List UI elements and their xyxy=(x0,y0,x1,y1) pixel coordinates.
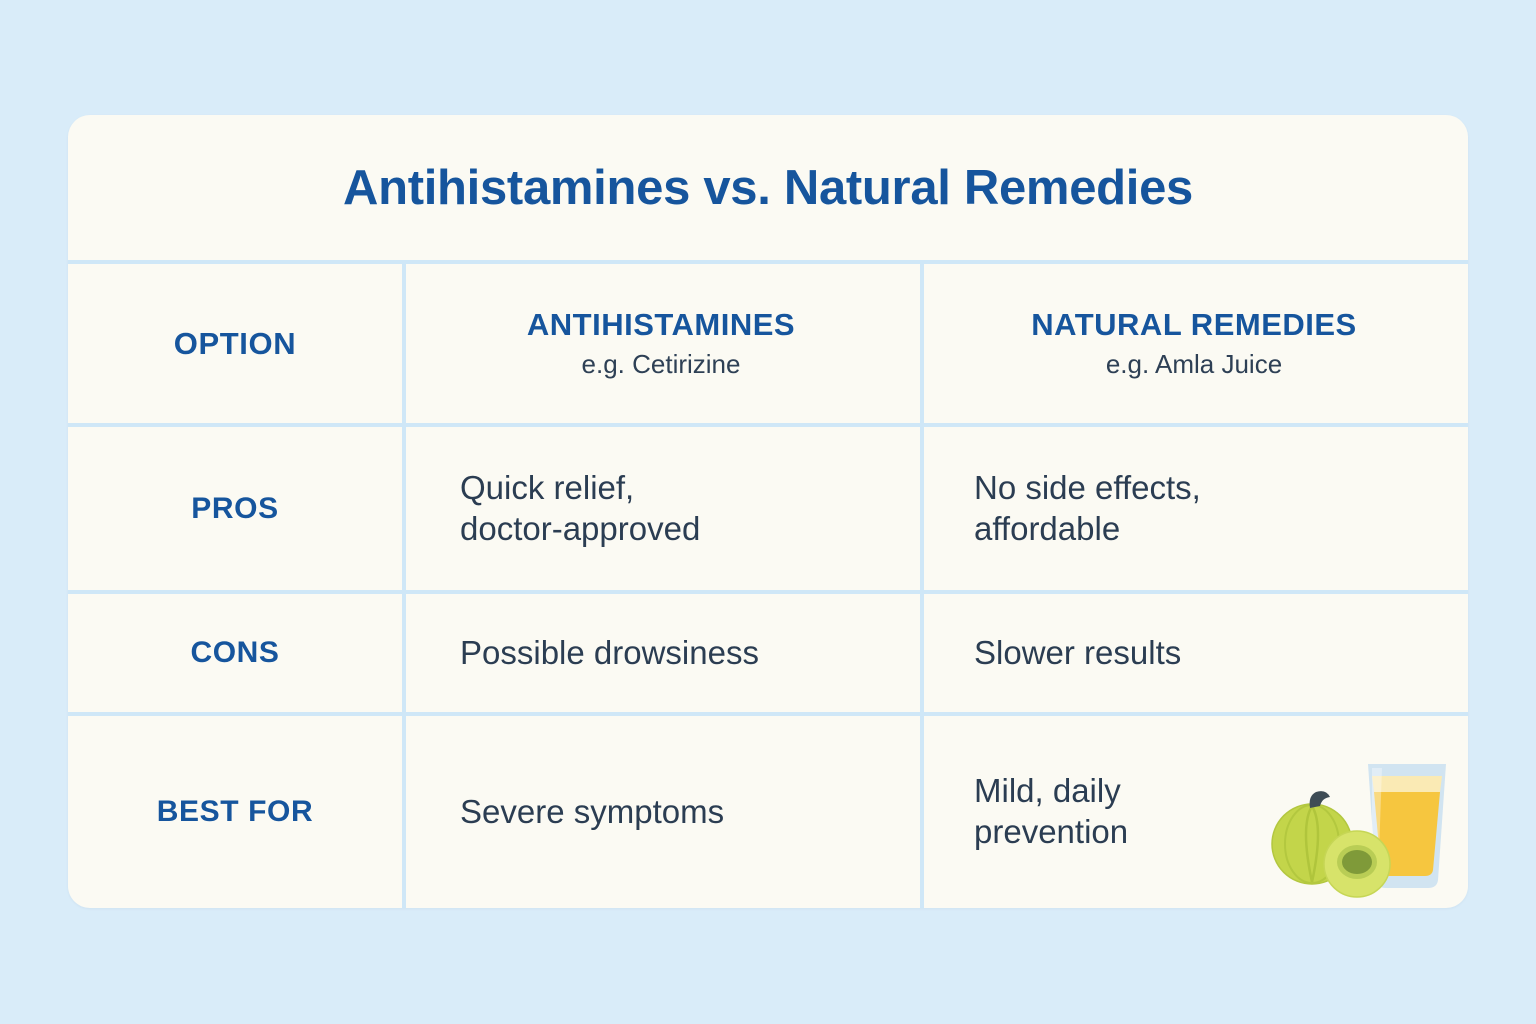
cell-text-cons-natural-remedies: Slower results xyxy=(974,633,1181,674)
header-cell-antihistamines: ANTIHISTAMINES e.g. Cetirizine xyxy=(402,264,920,423)
cell-cons-antihistamines: Possible drowsiness xyxy=(402,594,920,712)
cell-text-pros-antihistamines: Quick relief,doctor-approved xyxy=(460,468,700,550)
header-title-natural-remedies: NATURAL REMEDIES xyxy=(1031,307,1356,343)
row-label-cons: CONS xyxy=(190,636,279,670)
cell-best-for-antihistamines: Severe symptoms xyxy=(402,716,920,908)
cell-pros-natural-remedies: No side effects,affordable xyxy=(920,427,1468,590)
row-label-cell-cons: CONS xyxy=(68,594,402,712)
header-subtitle-natural-remedies: e.g. Amla Juice xyxy=(1106,349,1282,380)
page-title: Antihistamines vs. Natural Remedies xyxy=(343,160,1193,216)
row-label-cell-best-for: BEST FOR xyxy=(68,716,402,908)
card-title-bar: Antihistamines vs. Natural Remedies xyxy=(68,115,1468,260)
amla-juice-illustration-icon xyxy=(1260,742,1450,902)
screenshot-canvas: Antihistamines vs. Natural Remedies OPTI… xyxy=(0,0,1536,1024)
cell-text-cons-antihistamines: Possible drowsiness xyxy=(460,633,759,674)
header-subtitle-antihistamines: e.g. Cetirizine xyxy=(582,349,741,380)
row-label-pros: PROS xyxy=(191,492,278,526)
cell-cons-natural-remedies: Slower results xyxy=(920,594,1468,712)
table-row: CONS Possible drowsiness Slower results xyxy=(68,594,1468,712)
cell-best-for-natural-remedies: Mild, dailyprevention xyxy=(920,716,1468,908)
table-row: BEST FOR Severe symptoms Mild, dailyprev… xyxy=(68,716,1468,908)
header-label-option: OPTION xyxy=(174,326,296,362)
table-header-row: OPTION ANTIHISTAMINES e.g. Cetirizine NA… xyxy=(68,264,1468,423)
comparison-card: Antihistamines vs. Natural Remedies OPTI… xyxy=(68,115,1468,908)
cell-text-best-for-natural-remedies: Mild, dailyprevention xyxy=(974,771,1128,853)
header-cell-option: OPTION xyxy=(68,264,402,423)
cell-pros-antihistamines: Quick relief,doctor-approved xyxy=(402,427,920,590)
cell-text-best-for-antihistamines: Severe symptoms xyxy=(460,792,724,833)
cell-text-pros-natural-remedies: No side effects,affordable xyxy=(974,468,1201,550)
header-cell-natural-remedies: NATURAL REMEDIES e.g. Amla Juice xyxy=(920,264,1468,423)
table-row: PROS Quick relief,doctor-approved No sid… xyxy=(68,427,1468,590)
row-label-cell-pros: PROS xyxy=(68,427,402,590)
header-title-antihistamines: ANTIHISTAMINES xyxy=(527,307,795,343)
row-label-best-for: BEST FOR xyxy=(157,795,313,829)
